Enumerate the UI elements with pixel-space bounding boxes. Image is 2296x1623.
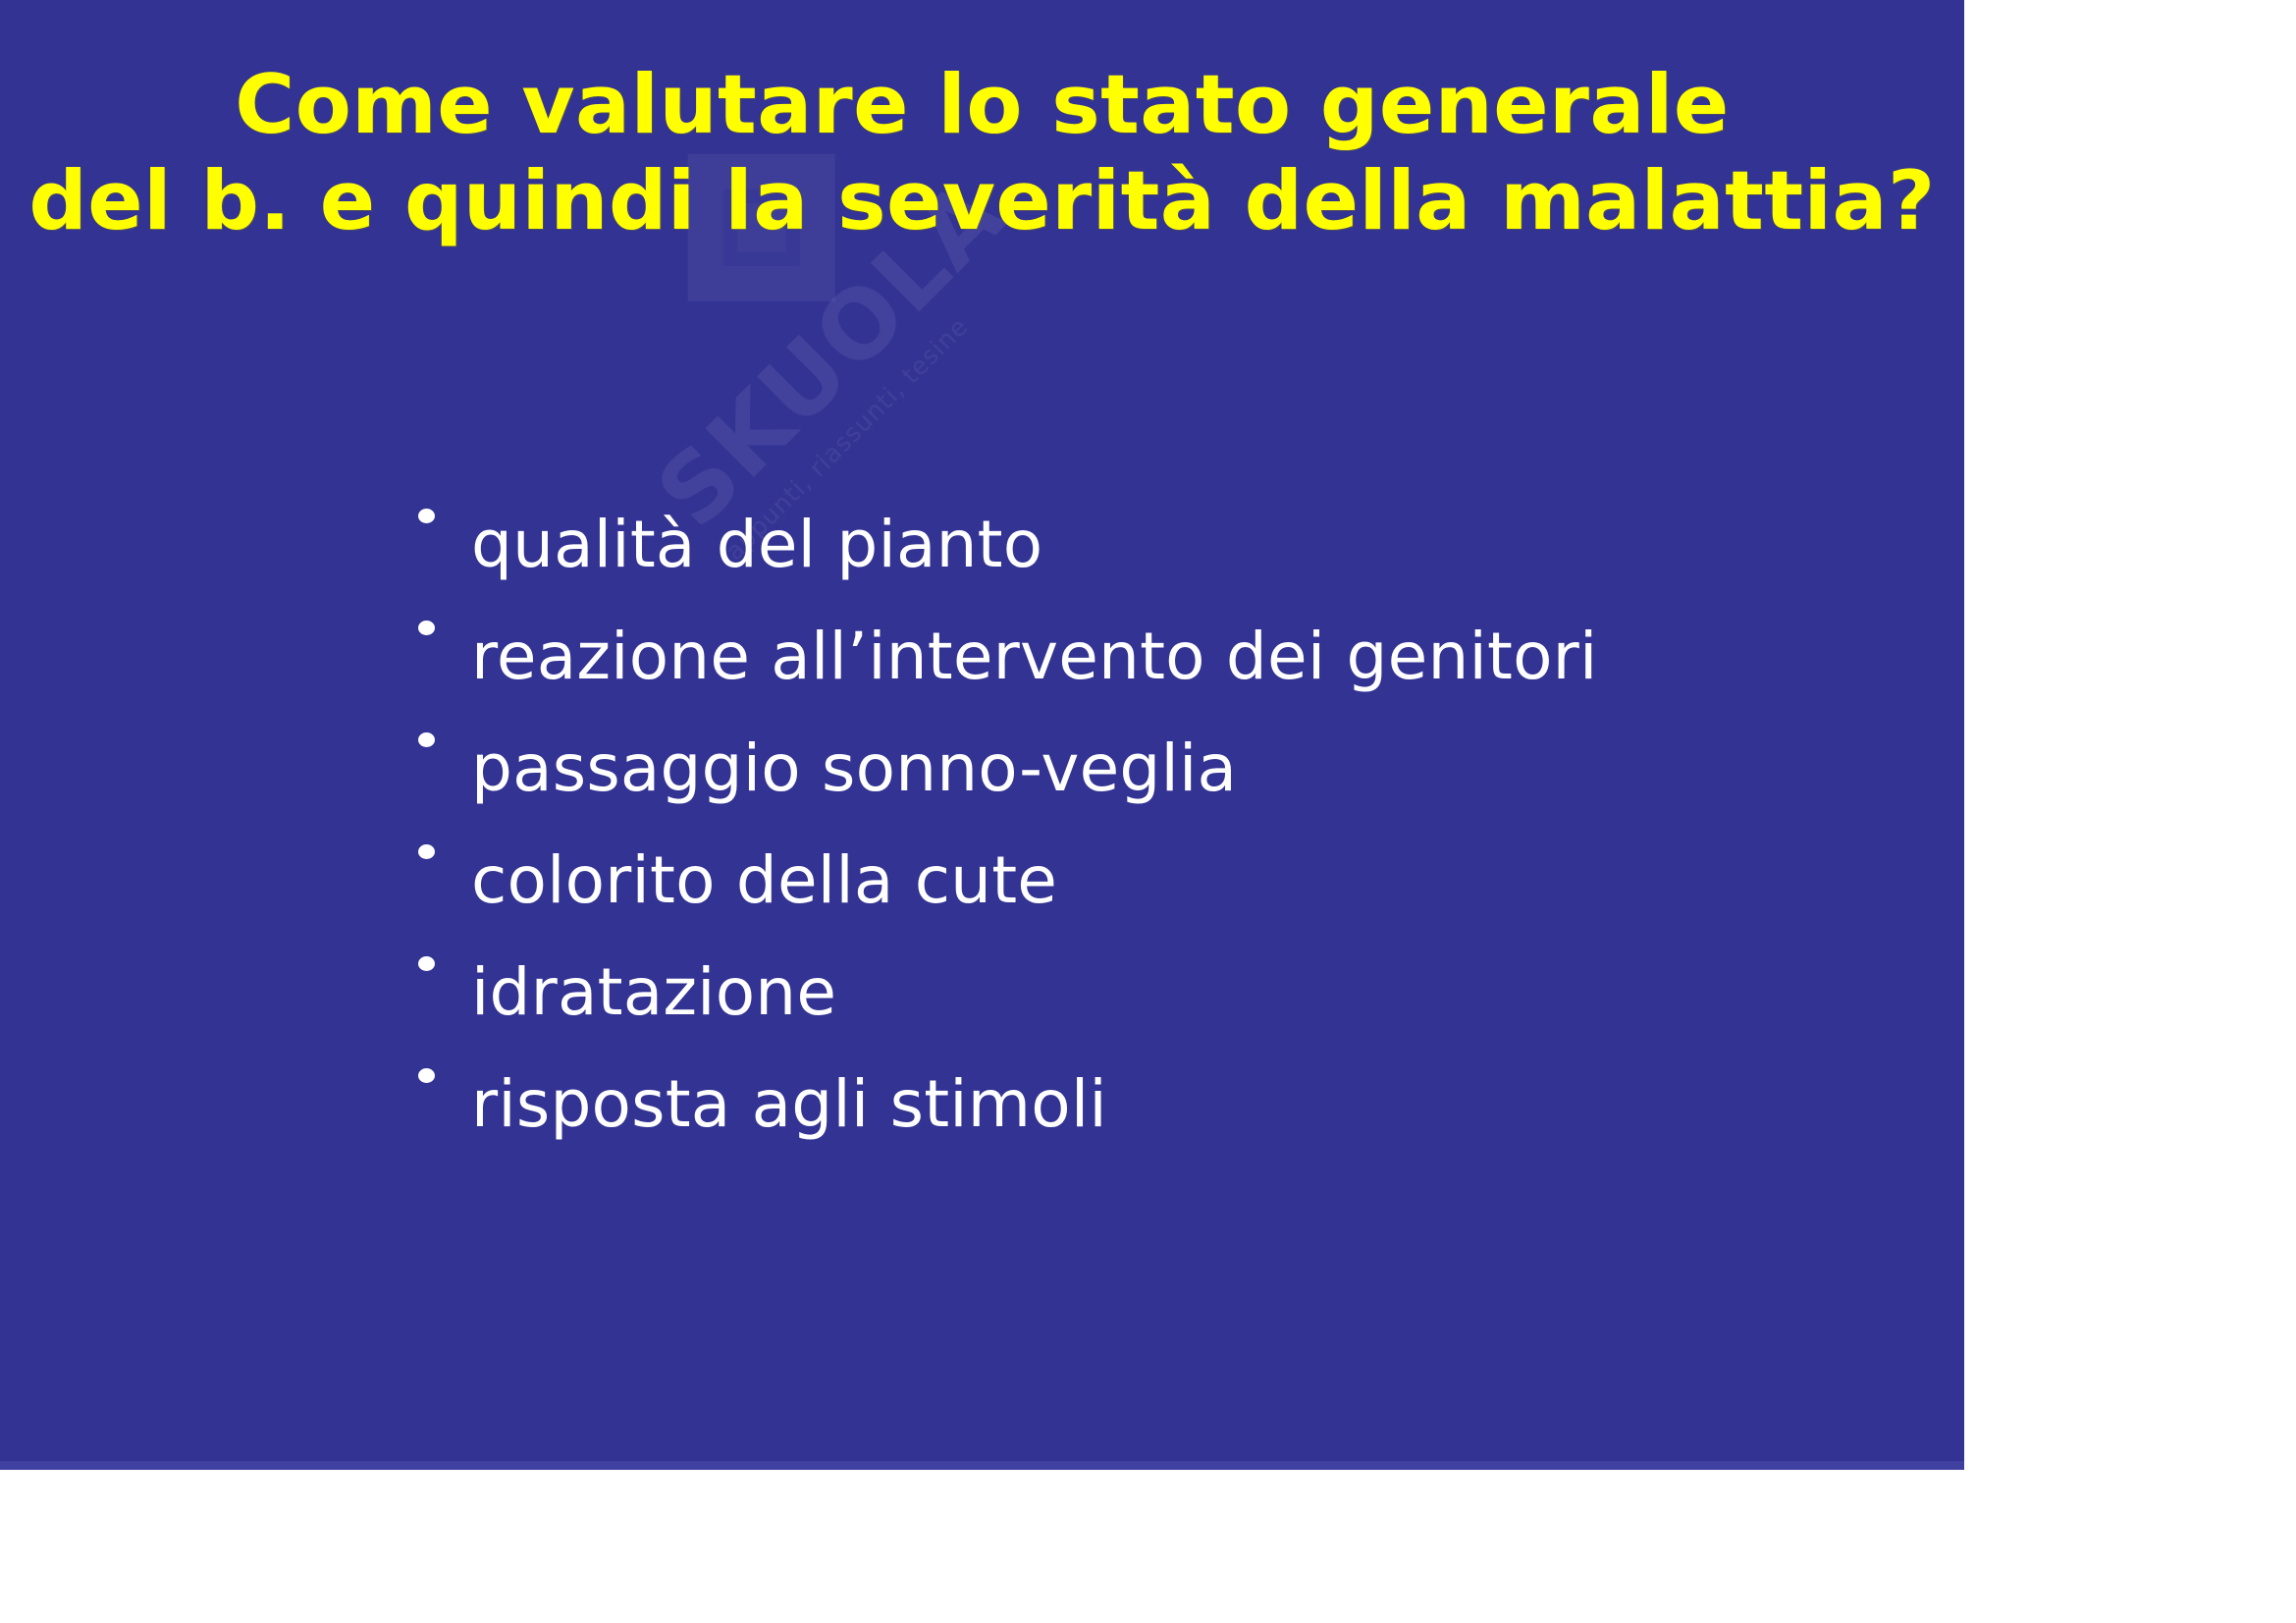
slide-title-line-2: del b. e quindi la severità della malatt…: [0, 153, 1964, 249]
list-item-label: colorito della cute: [471, 844, 1057, 917]
list-item: risposta agli stimoli: [410, 1068, 1942, 1180]
slide-title-line-1: Come valutare lo stato generale: [0, 57, 1964, 153]
list-item-label: idratazione: [471, 956, 836, 1029]
list-item: idratazione: [410, 956, 1942, 1068]
bullet-point-icon: [410, 844, 471, 859]
presentation-slide: SKUOLA appunti, riassunti, tesine Come v…: [0, 0, 1964, 1470]
slide-canvas: SKUOLA appunti, riassunti, tesine Come v…: [0, 0, 2296, 1623]
list-item-label: passaggio sonno-veglia: [471, 732, 1237, 805]
bullet-point-icon: [410, 509, 471, 523]
list-item-label: qualità del pianto: [471, 509, 1042, 581]
slide-bullet-list: qualità del pianto reazione all’interven…: [410, 509, 1942, 1180]
bullet-point-icon: [410, 621, 471, 635]
list-item: passaggio sonno-veglia: [410, 732, 1942, 844]
bullet-point-icon: [410, 732, 471, 747]
bullet-point-icon: [410, 956, 471, 971]
list-item: reazione all’intervento dei genitori: [410, 621, 1942, 732]
list-item: colorito della cute: [410, 844, 1942, 956]
list-item-label: risposta agli stimoli: [471, 1068, 1107, 1141]
list-item-label: reazione all’intervento dei genitori: [471, 621, 1598, 693]
slide-title: Come valutare lo stato generale del b. e…: [0, 57, 1964, 249]
list-item: qualità del pianto: [410, 509, 1942, 621]
bullet-point-icon: [410, 1068, 471, 1083]
slide-bottom-edge: [0, 1461, 1964, 1470]
